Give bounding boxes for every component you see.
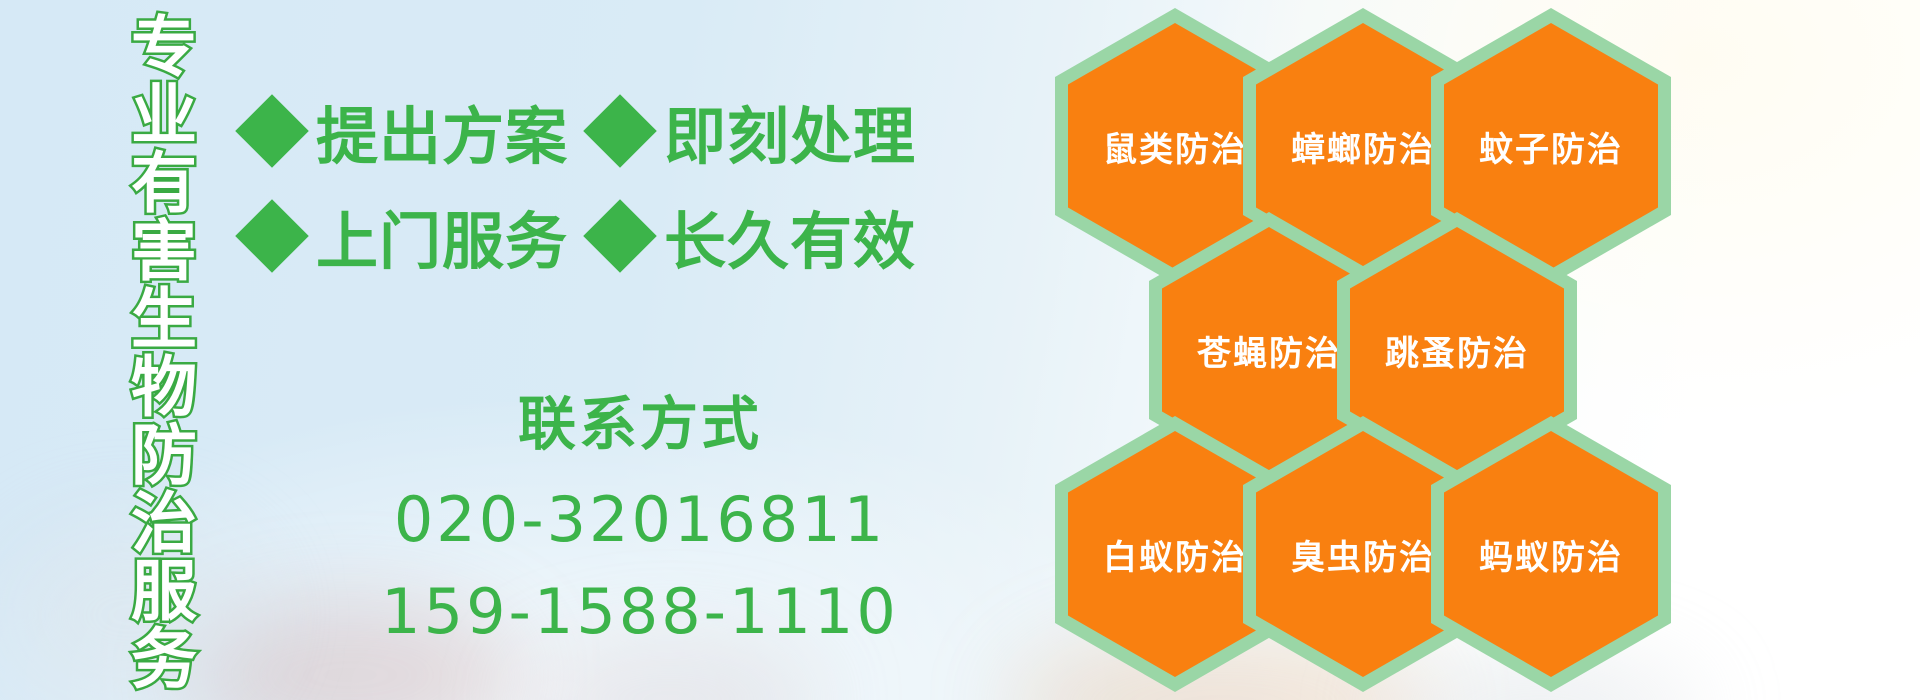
vertical-headline-char: 治 bbox=[131, 490, 197, 558]
feature-item: 上门服务 bbox=[246, 191, 594, 281]
vertical-headline-char: 物 bbox=[131, 354, 197, 422]
vertical-headline: 专 业 有 害 生 物 防 治 服 务 bbox=[112, 14, 216, 674]
feature-list: 提出方案 即刻处理 上门服务 长久有效 bbox=[246, 78, 886, 288]
pest-control-banner: 专 业 有 害 生 物 防 治 服 务 提出方案 即刻处理 上门服务 bbox=[0, 0, 1920, 700]
feature-label: 即刻处理 bbox=[664, 86, 916, 176]
service-hex-label: 蚊子防治 bbox=[1479, 122, 1623, 171]
feature-row: 提出方案 即刻处理 bbox=[246, 78, 886, 183]
service-hex-label: 鼠类防治 bbox=[1103, 122, 1247, 171]
vertical-headline-char: 务 bbox=[131, 626, 197, 694]
vertical-headline-char: 业 bbox=[131, 82, 197, 150]
hex-inner: 蚂蚁防治 bbox=[1444, 431, 1658, 677]
diamond-icon bbox=[235, 199, 309, 273]
vertical-headline-char: 服 bbox=[131, 558, 197, 626]
vertical-headline-char: 害 bbox=[131, 218, 197, 286]
diamond-icon bbox=[235, 94, 309, 168]
service-hex-label: 蚂蚁防治 bbox=[1479, 530, 1623, 579]
service-hex-label: 蟑螂防治 bbox=[1291, 122, 1435, 171]
contact-block: 联系方式 020-32016811 159-1588-1110 bbox=[330, 388, 950, 658]
feature-row: 上门服务 长久有效 bbox=[246, 183, 886, 288]
service-hex-grid: 鼠类防治 蟑螂防治 蚊子防治 苍蝇防治 跳蚤防治 白蚁防治 bbox=[1055, 0, 1785, 700]
feature-label: 提出方案 bbox=[316, 86, 568, 176]
feature-item: 长久有效 bbox=[594, 191, 942, 281]
service-hex-label: 臭虫防治 bbox=[1291, 530, 1435, 579]
feature-label: 上门服务 bbox=[316, 191, 568, 281]
feature-item: 即刻处理 bbox=[594, 86, 942, 176]
diamond-icon bbox=[583, 94, 657, 168]
diamond-icon bbox=[583, 199, 657, 273]
service-hex-label: 白蚁防治 bbox=[1103, 530, 1247, 579]
vertical-headline-char: 生 bbox=[131, 286, 197, 354]
service-hex-label: 苍蝇防治 bbox=[1197, 326, 1341, 375]
vertical-headline-char: 防 bbox=[131, 422, 197, 490]
feature-label: 长久有效 bbox=[664, 191, 916, 281]
mobile-phone-number[interactable]: 159-1588-1110 bbox=[330, 566, 950, 658]
landline-phone-number[interactable]: 020-32016811 bbox=[330, 474, 950, 566]
feature-item: 提出方案 bbox=[246, 86, 594, 176]
service-hex-label: 跳蚤防治 bbox=[1385, 326, 1529, 375]
vertical-headline-char: 有 bbox=[131, 150, 197, 218]
contact-title: 联系方式 bbox=[330, 388, 950, 460]
vertical-headline-char: 专 bbox=[131, 14, 197, 82]
